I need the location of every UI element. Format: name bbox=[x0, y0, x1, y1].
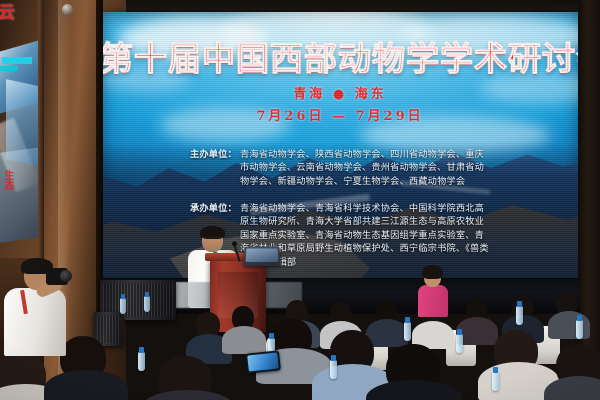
left-vertical-poster: 周云 生态 bbox=[0, 0, 40, 258]
audience-shoulders bbox=[222, 326, 266, 354]
water-bottle bbox=[120, 298, 126, 314]
organizers-block: 主办单位： 青海省动物学会、陕西省动物学会、四川省动物学会、重庆市动物学会、云南… bbox=[190, 148, 490, 188]
right-wall bbox=[578, 0, 600, 400]
water-bottle bbox=[144, 296, 150, 312]
camera bbox=[46, 268, 68, 285]
water-bottle bbox=[330, 360, 337, 379]
water-bottle bbox=[492, 372, 499, 391]
smartphone-camera bbox=[245, 350, 281, 373]
organizers-label: 主办单位： bbox=[190, 148, 240, 188]
audience-shoulders bbox=[142, 390, 234, 400]
audience-shoulders bbox=[44, 370, 128, 400]
attendee-body bbox=[418, 285, 448, 317]
laptop-screen bbox=[246, 248, 279, 261]
water-bottle bbox=[516, 306, 523, 325]
photographer-body bbox=[4, 288, 66, 356]
poster-side-text: 生态 bbox=[0, 170, 13, 190]
conference-headline: 第十届中国西部动物学学术研讨会 bbox=[100, 40, 580, 78]
water-bottle bbox=[138, 352, 145, 371]
organizers-value: 青海省动物学会、陕西省动物学会、四川省动物学会、重庆市动物学会、云南省动物学会、… bbox=[240, 148, 490, 188]
pillar-knob bbox=[62, 4, 73, 15]
poster-cyan-band bbox=[0, 66, 18, 71]
attendee-hair bbox=[422, 265, 443, 279]
water-bottle bbox=[456, 334, 463, 353]
water-bottle bbox=[576, 320, 583, 339]
led-backdrop-screen: 第十届中国西部动物学学术研讨会 青海 ● 海东 7月26日 — 7月29日 主办… bbox=[100, 12, 580, 282]
conference-photo: 第十届中国西部动物学学术研讨会 青海 ● 海东 7月26日 — 7月29日 主办… bbox=[0, 0, 600, 400]
speaker-glasses bbox=[202, 237, 223, 243]
water-bottle bbox=[404, 322, 411, 341]
poster-cyan-band bbox=[2, 57, 32, 64]
poster-red-text: 周云 bbox=[0, 2, 40, 24]
conference-location: 青海 ● 海东 bbox=[100, 86, 580, 104]
laptop bbox=[243, 247, 281, 266]
phone-screen bbox=[247, 352, 279, 371]
audience-shoulders bbox=[548, 311, 590, 339]
conference-dates: 7月26日 — 7月29日 bbox=[100, 108, 580, 126]
